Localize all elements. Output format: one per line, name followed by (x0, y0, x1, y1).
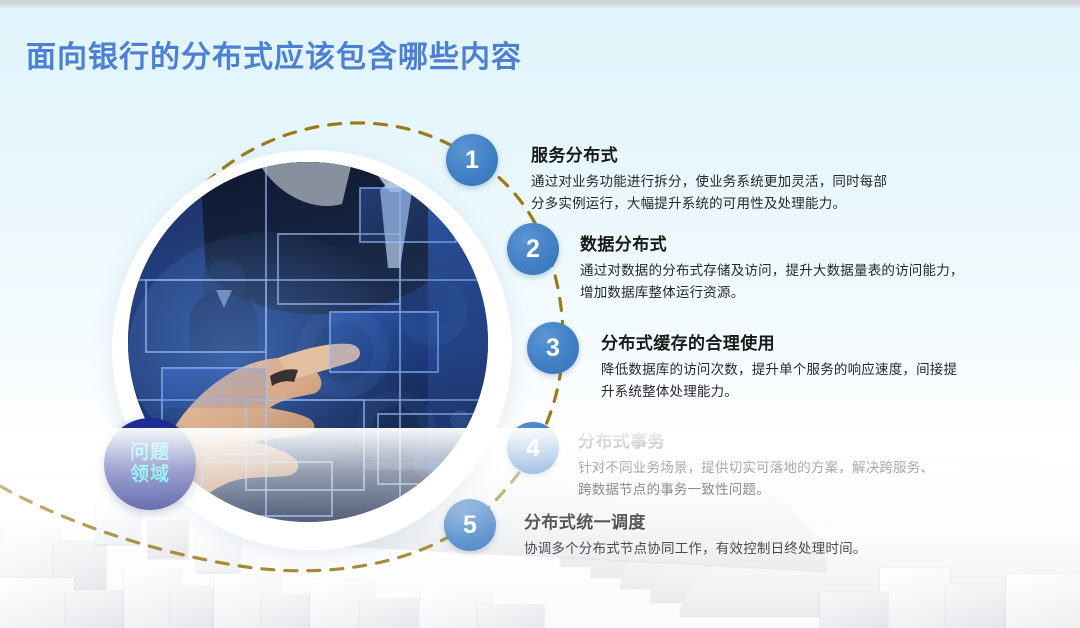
step-number-2[interactable]: 2 (507, 223, 559, 275)
list-item-2[interactable]: 数据分布式 通过对数据的分布式存储及访问，提升大数据量表的访问能力， 增加数据库… (580, 230, 980, 304)
step-number-1[interactable]: 1 (446, 134, 498, 186)
list-item-3[interactable]: 分布式缓存的合理使用 降低数据库的访问次数，提升单个服务的响应速度，间接提 升系… (601, 329, 1001, 403)
item-heading: 分布式事务 (578, 427, 978, 452)
item-body: 通过对数据的分布式存储及访问，提升大数据量表的访问能力， 增加数据库整体运行资源… (580, 260, 980, 304)
item-body: 通过对业务功能进行拆分，使业务系统更加灵活，同时每部 分多实例运行，大幅提升系统… (531, 171, 961, 215)
badge-line-2: 领域 (130, 464, 170, 486)
step-number-4[interactable]: 4 (507, 422, 559, 474)
page-title: 面向银行的分布式应该包含哪些内容 (26, 32, 522, 76)
item-body: 协调多个分布式节点协同工作，有效控制日终处理时间。 (524, 538, 954, 560)
item-body: 降低数据库的访问次数，提升单个服务的响应速度，间接提 升系统整体处理能力。 (601, 359, 1001, 403)
item-heading: 服务分布式 (531, 141, 961, 166)
item-heading: 分布式统一调度 (524, 508, 954, 533)
list-item-5[interactable]: 分布式统一调度 协调多个分布式节点协同工作，有效控制日终处理时间。 (524, 508, 954, 560)
item-body: 针对不同业务场景，提供切实可落地的方案，解决跨服务、 跨数据节点的事务一致性问题… (578, 457, 978, 501)
problem-domain-badge: 问题 领域 (104, 418, 196, 510)
list-item-4[interactable]: 分布式事务 针对不同业务场景，提供切实可落地的方案，解决跨服务、 跨数据节点的事… (578, 427, 978, 501)
item-heading: 数据分布式 (580, 230, 980, 255)
step-number-5[interactable]: 5 (444, 499, 496, 551)
slide-canvas: 面向银行的分布式应该包含哪些内容 (0, 0, 1080, 628)
badge-line-1: 问题 (130, 442, 170, 464)
item-heading: 分布式缓存的合理使用 (601, 329, 1001, 354)
list-item-1[interactable]: 服务分布式 通过对业务功能进行拆分，使业务系统更加灵活，同时每部 分多实例运行，… (531, 141, 961, 215)
step-number-3[interactable]: 3 (527, 322, 579, 374)
top-edge-strip (0, 0, 1080, 8)
